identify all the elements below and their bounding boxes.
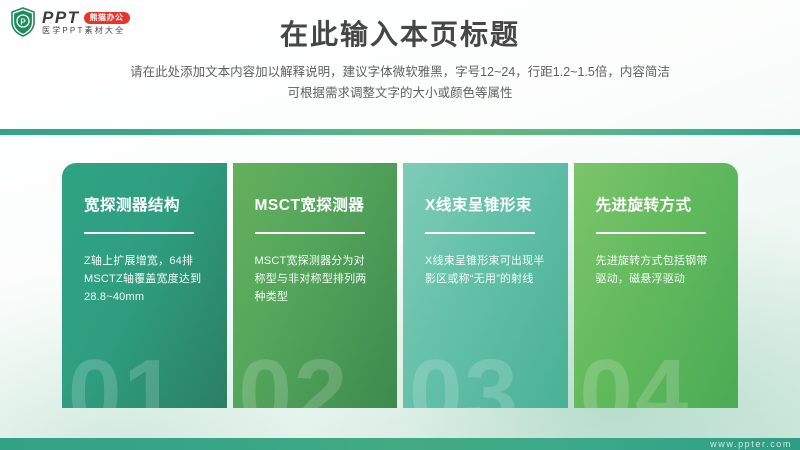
content-card-02[interactable]: 02 MSCT宽探测器 MSCT宽探测器分为对称型与非对称型排列两种类型	[233, 163, 398, 408]
card-rule-03	[425, 232, 535, 234]
header-divider-bar	[0, 129, 800, 135]
card-title-03: X线束呈锥形束	[425, 197, 546, 216]
card-body-04: 先进旋转方式包括钢带驱动，磁悬浮驱动	[596, 252, 717, 288]
footer-watermark-url: www.ppter.com	[710, 439, 792, 449]
card-number-02: 02	[239, 346, 398, 408]
content-card-04[interactable]: 04 先进旋转方式 先进旋转方式包括钢带驱动，磁悬浮驱动	[574, 163, 739, 408]
card-body-03: X线束呈锥形束可出现半影区或称“无用”的射线	[425, 252, 546, 288]
subtitle-line-1: 请在此处添加文本内容加以解释说明，建议字体微软雅黑，字号12~24，行距1.2~…	[0, 62, 800, 83]
card-title-02: MSCT宽探测器	[255, 197, 376, 216]
content-card-01[interactable]: 01 宽探测器结构 Z轴上扩展增宽，64排MSCTZ轴覆盖宽度达到28.8~40…	[62, 163, 227, 408]
page-subtitle: 请在此处添加文本内容加以解释说明，建议字体微软雅黑，字号12~24，行距1.2~…	[0, 62, 800, 104]
subtitle-line-2: 可根据需求调整文字的大小或颜色等属性	[0, 83, 800, 104]
content-card-03[interactable]: 03 X线束呈锥形束 X线束呈锥形束可出现半影区或称“无用”的射线	[403, 163, 568, 408]
slide-canvas: P PPT 熊猫办公 医学PPT素材大全 在此输入本页标题 请在此处添加文本内容…	[0, 0, 800, 450]
card-content-02: MSCT宽探测器 MSCT宽探测器分为对称型与非对称型排列两种类型	[233, 163, 398, 306]
card-number-03: 03	[409, 346, 568, 408]
card-content-04: 先进旋转方式 先进旋转方式包括钢带驱动，磁悬浮驱动	[574, 163, 739, 288]
card-rule-04	[596, 232, 706, 234]
footer-bar: www.ppter.com	[0, 438, 800, 450]
card-row: 01 宽探测器结构 Z轴上扩展增宽，64排MSCTZ轴覆盖宽度达到28.8~40…	[62, 163, 738, 408]
card-content-03: X线束呈锥形束 X线束呈锥形束可出现半影区或称“无用”的射线	[403, 163, 568, 288]
card-body-01: Z轴上扩展增宽，64排MSCTZ轴覆盖宽度达到28.8~40mm	[84, 252, 205, 306]
card-content-01: 宽探测器结构 Z轴上扩展增宽，64排MSCTZ轴覆盖宽度达到28.8~40mm	[62, 163, 227, 306]
card-rule-02	[255, 232, 365, 234]
card-body-02: MSCT宽探测器分为对称型与非对称型排列两种类型	[255, 252, 376, 306]
page-title: 在此输入本页标题	[0, 18, 800, 52]
card-title-04: 先进旋转方式	[596, 197, 717, 216]
card-rule-01	[84, 232, 194, 234]
card-number-01: 01	[68, 346, 227, 408]
card-number-04: 04	[580, 346, 739, 408]
card-title-01: 宽探测器结构	[84, 197, 205, 216]
